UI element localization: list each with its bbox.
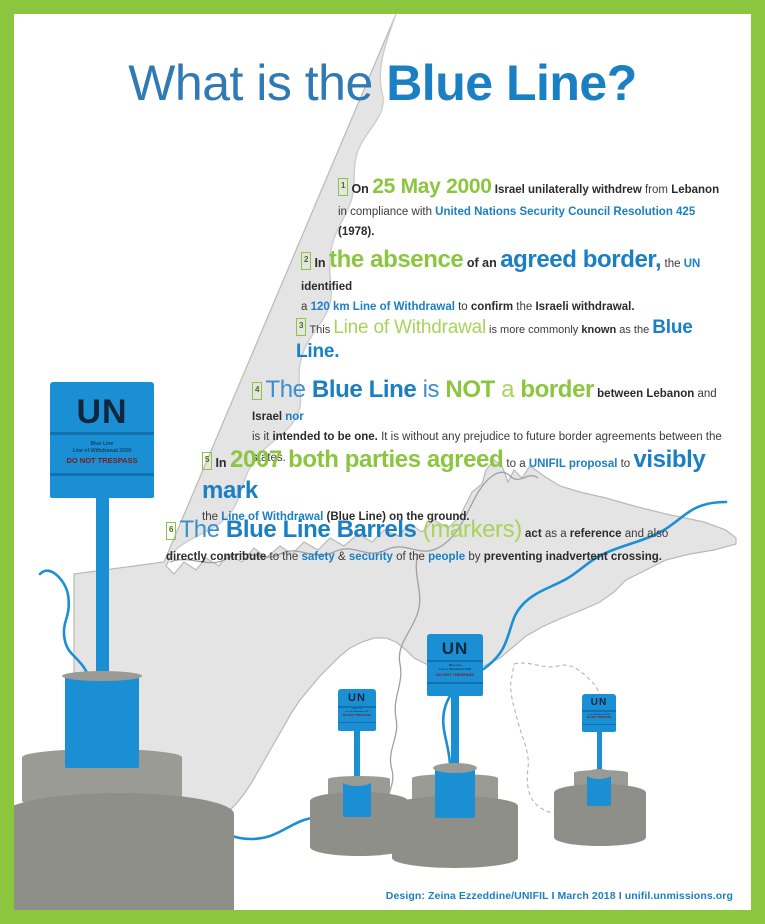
fact-text-segment: In <box>215 456 230 470</box>
blue-line-barrel-medium: UN Blue Line Line of Withdrawal 2000 DO … <box>427 634 483 818</box>
fact-text-segment: intended to be one. <box>272 431 377 443</box>
fact-text-segment: of an <box>463 256 500 270</box>
barrel-fine-print: Blue Line Line of Withdrawal 2000 DO NOT… <box>427 664 483 677</box>
fact-text-segment: UN <box>684 258 701 270</box>
fact-text-segment: as the <box>616 324 652 336</box>
fact-text-segment: The <box>265 376 311 403</box>
fact-text-segment: and also <box>622 528 669 540</box>
barrel-post <box>354 731 360 781</box>
barrel-line1: Blue Line <box>50 441 154 448</box>
fact-text-segment: to <box>617 458 633 470</box>
fact-text-segment: Israel unilaterally withdrew <box>492 184 642 196</box>
barrel-post <box>451 696 459 768</box>
fact-block-3: 3This Line of Withdrawal is more commonl… <box>296 316 728 365</box>
poster-canvas: What is the Blue Line? 1On 25 May 2000 I… <box>14 14 751 910</box>
fact-line: 3This Line of Withdrawal is more commonl… <box>296 316 728 365</box>
fact-block-1: 1On 25 May 2000 Israel unilaterally with… <box>338 174 728 242</box>
fact-line: 1On 25 May 2000 Israel unilaterally with… <box>338 174 728 201</box>
blue-line-barrel-large: UN Blue Line Line of Withdrawal 2000 DO … <box>50 382 154 768</box>
fact-text-segment: NOT <box>445 376 494 403</box>
barrel-warning: DO NOT TRESPASS <box>582 716 616 719</box>
fact-text-segment: directly contribute <box>166 551 266 563</box>
fact-text-segment: border <box>520 376 594 403</box>
fact-text-segment: reference <box>570 528 622 540</box>
fact-text-segment: Blue Line Barrels <box>226 516 417 543</box>
barrel-drum: UN Blue Line Line of Withdrawal 2000 DO … <box>582 694 616 732</box>
fact-number-badge: 6 <box>166 522 176 540</box>
barrel-drum: UN Blue Line Line of Withdrawal 2000 DO … <box>50 382 154 498</box>
fact-text-segment: act <box>522 528 542 540</box>
pedestal-large <box>14 749 234 910</box>
fact-text-segment: by <box>465 551 484 563</box>
blue-line-barrel-small-b: UN Blue Line Line of Withdrawal 2000 DO … <box>582 694 616 806</box>
fact-text-segment: preventing inadvertent crossing. <box>484 551 662 563</box>
fact-text-segment: nor <box>282 411 304 423</box>
fact-text-segment: to the <box>266 551 301 563</box>
fact-number-badge: 3 <box>296 318 306 336</box>
fact-text-segment: Israel <box>252 411 282 423</box>
fact-text-segment: 25 May 2000 <box>372 175 491 198</box>
fact-text-segment: from <box>642 184 671 196</box>
fact-text-segment: 2007 both parties agreed <box>230 446 503 473</box>
fact-text-segment: is more commonly <box>486 324 581 336</box>
fact-text-segment: security <box>349 551 393 563</box>
barrel-warning: DO NOT TRESPASS <box>338 714 376 718</box>
fact-text-segment: Israeli withdrawal. <box>535 301 634 313</box>
barrel-drum: UN Blue Line Line of Withdrawal 2000 DO … <box>427 634 483 696</box>
fact-text-segment: In <box>314 256 329 270</box>
fact-line: 2In the absence of an agreed border, the… <box>301 245 729 296</box>
fact-line: directly contribute to the safety & secu… <box>166 546 730 566</box>
fact-number-badge: 1 <box>338 178 348 196</box>
fact-text-segment: Line of Withdrawal <box>333 317 486 338</box>
fact-text-segment: of the <box>393 551 428 563</box>
barrel-fine-print: Blue Line Line of Withdrawal 2000 DO NOT… <box>582 711 616 719</box>
fact-block-2: 2In the absence of an agreed border, the… <box>301 245 729 317</box>
barrel-un-label: UN <box>427 639 483 659</box>
fact-text-segment: and <box>694 388 716 400</box>
barrel-warning: DO NOT TRESPASS <box>50 456 154 465</box>
fact-text-segment: safety <box>302 551 335 563</box>
fact-text-segment: Blue Line <box>312 376 416 403</box>
fact-text-segment: the <box>513 301 535 313</box>
barrel-fine-print: Blue Line Line of Withdrawal 2000 DO NOT… <box>50 441 154 465</box>
fact-text-segment: the <box>661 258 683 270</box>
fact-text-segment: identified <box>301 281 352 293</box>
footer-credit: Design: Zeina Ezzeddine/UNIFIL I March 2… <box>386 890 733 902</box>
barrel-drum: UN Blue Line Line of Withdrawal 2000 DO … <box>338 689 376 731</box>
fact-text-segment: On <box>351 182 372 196</box>
fact-text-segment: & <box>335 551 349 563</box>
fact-line: a 120 km Line of Withdrawal to confirm t… <box>301 296 729 316</box>
blue-line-barrel-small-a: UN Blue Line Line of Withdrawal 2000 DO … <box>338 689 376 817</box>
fact-text-segment: to a <box>503 458 529 470</box>
fact-text-segment: agreed border, <box>500 246 661 273</box>
fact-line: 6The Blue Line Barrels (markers) act as … <box>166 515 730 546</box>
barrel-post <box>597 732 602 774</box>
page-title: What is the Blue Line? <box>14 58 751 108</box>
fact-line: 4The Blue Line is NOT a border between L… <box>252 375 730 426</box>
fact-text-segment: 120 km Line of Withdrawal <box>311 301 455 313</box>
fact-text-segment: is <box>416 376 445 403</box>
fact-text-segment: a <box>301 301 311 313</box>
fact-line: in compliance with United Nations Securi… <box>338 201 728 242</box>
barrel-post <box>96 498 109 678</box>
fact-text-segment: a <box>495 376 520 403</box>
poster-frame: What is the Blue Line? 1On 25 May 2000 I… <box>0 0 765 924</box>
fact-text-segment: (1978). <box>338 226 374 238</box>
fact-text-segment: confirm <box>471 301 513 313</box>
fact-text-segment: as a <box>542 528 570 540</box>
barrel-warning: DO NOT TRESPASS <box>427 672 483 677</box>
barrel-base-cylinder <box>65 676 139 768</box>
fact-number-badge: 5 <box>202 452 212 470</box>
title-light: What is the <box>128 55 386 111</box>
fact-text-segment: is it <box>252 431 272 443</box>
fact-text-segment: The <box>179 516 225 543</box>
fact-text-segment: UNIFIL proposal <box>529 458 618 470</box>
fact-text-segment: United Nations Security Council Resoluti… <box>435 206 695 218</box>
fact-text-segment: known <box>581 324 616 336</box>
fact-text-segment: Lebanon <box>671 184 719 196</box>
barrel-base-cylinder <box>587 774 611 806</box>
title-bold: Blue Line? <box>386 55 637 111</box>
fact-block-6: 6The Blue Line Barrels (markers) act as … <box>166 515 730 566</box>
fact-text-segment: (markers) <box>417 516 522 543</box>
fact-text-segment: between Lebanon <box>594 388 694 400</box>
barrel-fine-print: Blue Line Line of Withdrawal 2000 DO NOT… <box>338 708 376 717</box>
fact-text-segment: the absence <box>329 246 463 273</box>
barrel-un-label: UN <box>338 692 376 705</box>
barrel-un-label: UN <box>50 392 154 432</box>
fact-text-segment: in compliance with <box>338 206 435 218</box>
fact-text-segment: to <box>455 301 471 313</box>
east-boundary-line <box>387 554 420 810</box>
barrel-base-cylinder <box>343 781 371 817</box>
barrel-un-label: UN <box>582 697 616 709</box>
fact-text-segment: people <box>428 551 465 563</box>
fact-number-badge: 4 <box>252 382 262 400</box>
barrel-line2: Line of Withdrawal 2000 <box>50 448 154 455</box>
fact-line: 5In 2007 both parties agreed to a UNIFIL… <box>202 445 730 506</box>
barrel-base-cylinder <box>435 768 475 818</box>
fact-text-segment: This <box>309 324 333 336</box>
fact-number-badge: 2 <box>301 252 311 270</box>
